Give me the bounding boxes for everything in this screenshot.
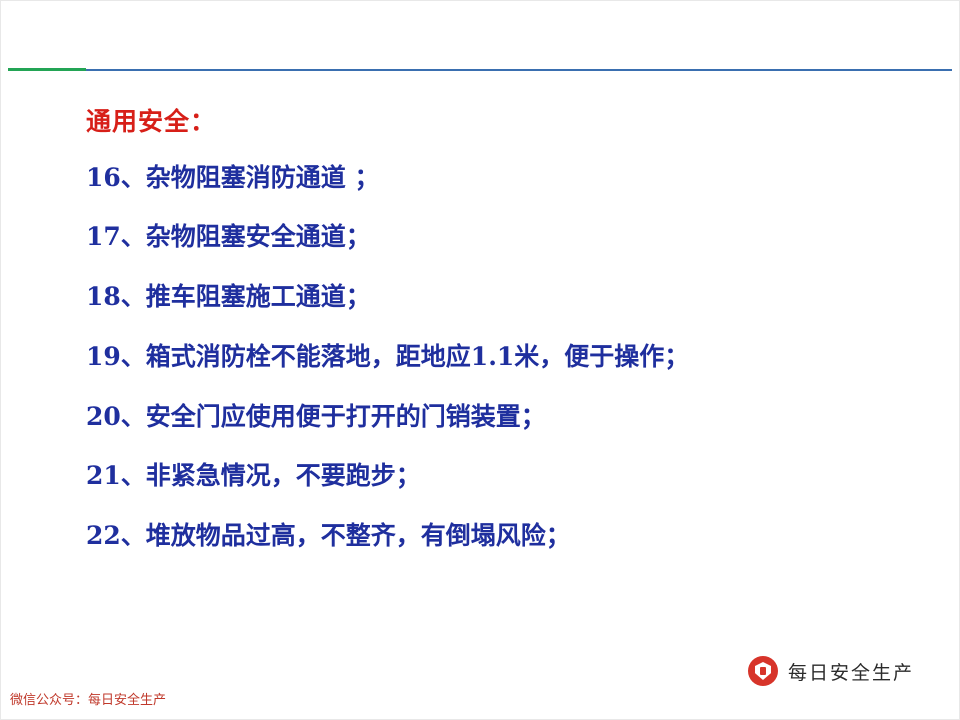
- list-item-text: 杂物阻塞消防通道 ；: [146, 163, 380, 192]
- list-item-text: 箱式消防栓不能落地，距地应1.1米，便于操作；: [146, 342, 690, 371]
- list-item-number: 21、: [86, 461, 146, 490]
- shield-logo-icon: [748, 656, 778, 686]
- list-item-text: 推车阻塞施工通道；: [146, 282, 371, 311]
- watermark-right-label: 每日安全生产: [788, 658, 914, 685]
- list-item-text: 安全门应使用便于打开的门销装置；: [146, 402, 546, 431]
- divider-accent-green: [8, 68, 86, 71]
- list-item-number: 20、: [86, 402, 146, 431]
- section-heading: 通用安全：: [86, 108, 916, 136]
- list-item-number: 17、: [86, 222, 146, 251]
- watermark-left: 微信公众号：每日安全生产: [10, 689, 166, 708]
- list-item-number: 16、: [86, 163, 146, 192]
- list-item: 21、非紧急情况，不要跑步；: [86, 462, 916, 491]
- divider-line-blue: [86, 69, 952, 71]
- slide-canvas: 通用安全： 16、杂物阻塞消防通道 ； 17、杂物阻塞安全通道； 18、推车阻塞…: [0, 0, 960, 720]
- slide-content: 通用安全： 16、杂物阻塞消防通道 ； 17、杂物阻塞安全通道； 18、推车阻塞…: [86, 108, 916, 582]
- list-item: 20、安全门应使用便于打开的门销装置；: [86, 403, 916, 432]
- list-item-text: 非紧急情况，不要跑步；: [146, 461, 421, 490]
- header-divider: [8, 68, 952, 71]
- list-item-number: 18、: [86, 282, 146, 311]
- list-item-text: 杂物阻塞安全通道；: [146, 222, 371, 251]
- list-item: 16、杂物阻塞消防通道 ；: [86, 164, 916, 193]
- list-item: 18、推车阻塞施工通道；: [86, 283, 916, 312]
- list-item: 22、堆放物品过高，不整齐，有倒塌风险；: [86, 522, 916, 551]
- watermark-right: 每日安全生产: [748, 656, 914, 686]
- list-item: 17、杂物阻塞安全通道；: [86, 223, 916, 252]
- list-item-text: 堆放物品过高，不整齐，有倒塌风险；: [146, 521, 571, 550]
- list-item: 19、箱式消防栓不能落地，距地应1.1米，便于操作；: [86, 343, 916, 372]
- list-item-number: 19、: [86, 342, 146, 371]
- list-item-number: 22、: [86, 521, 146, 550]
